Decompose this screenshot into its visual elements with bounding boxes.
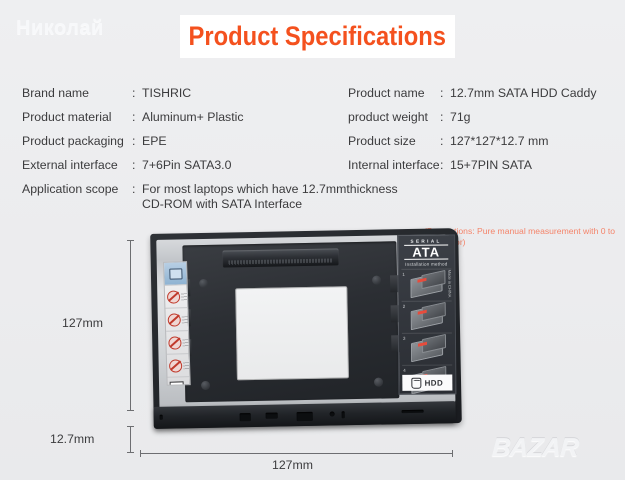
sticker-header [164,262,187,285]
step-number: 4 [403,368,405,373]
width-dimension-label: 127mm [272,458,313,472]
ata-logo: ATA [404,244,448,259]
drive-icon [169,268,182,279]
product-photo: SERIAL ATA Installation method 1 2 3 [0,0,625,480]
tray-cutout [235,286,349,380]
thickness-dimension-line [130,426,131,452]
warning-row [166,330,189,354]
sata-connector-icon [222,248,338,267]
width-dimension-line [140,453,452,454]
screw-icon [199,279,208,288]
barcode-icon [170,381,184,386]
dimension-cap [127,240,134,241]
step-number: 3 [403,336,405,341]
hdd-caddy-image: SERIAL ATA Installation method 1 2 3 [150,228,462,429]
bezel-cutout [402,410,424,413]
caddy-front-bezel [153,401,455,429]
prohibition-icon [168,313,181,326]
bezel-cutout [266,413,278,419]
bezel-cutout [297,412,313,421]
install-step: 2 [402,300,452,332]
bezel-cutout [160,415,163,420]
prohibition-icon [168,336,181,349]
prohibition-icon [169,359,182,372]
step-number: 1 [402,272,404,277]
dimension-cap [127,426,134,427]
warning-row [165,307,188,331]
made-in-label: Made in CHINA [447,270,452,298]
installation-sticker: SERIAL ATA Installation method 1 2 3 [397,234,456,395]
dimension-cap [452,450,453,457]
thickness-dimension-label: 12.7mm [50,432,94,446]
installation-method-label: Installation method [398,261,454,266]
hdd-label: HDD [402,374,452,390]
screw-icon [374,378,383,387]
warning-text-lines [181,293,187,300]
bezel-cutout [240,413,251,421]
install-step: 1 [401,268,451,300]
hdd-label-text: HDD [425,378,444,387]
dimension-cap [127,410,134,411]
step-number: 2 [403,304,405,309]
dimension-cap [127,452,134,453]
screw-icon [372,276,381,285]
warning-row [167,353,190,377]
warning-text-lines [182,316,188,323]
bezel-cutout [342,411,345,418]
caddy-drive-tray [182,241,399,402]
product-spec-page: Николай BAZAR Product Specifications Bra… [0,0,625,480]
dimension-cap [140,450,141,457]
sticker-footer [167,376,190,386]
serial-label: SERIAL [398,238,454,243]
warning-text-lines [182,339,188,346]
install-step: 3 [402,332,452,364]
height-dimension-label: 127mm [62,316,103,330]
warning-sticker [163,261,191,386]
warning-text-lines [183,362,189,369]
warning-row [165,284,188,308]
bezel-cutout [330,411,335,416]
hdd-icon [412,377,422,388]
screw-icon [201,381,210,390]
prohibition-icon [167,290,180,303]
height-dimension-line [130,240,131,410]
